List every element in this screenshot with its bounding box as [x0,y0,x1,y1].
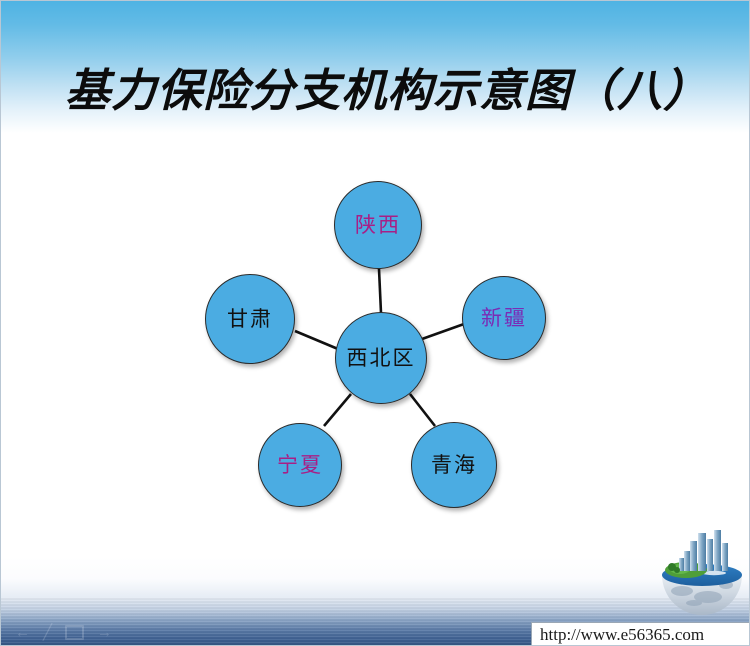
node-label-gansu: 甘肃 [227,309,273,330]
watermark-url-text: http://www.e56365.com [532,625,704,645]
node-qinghai[interactable]: 青海 [411,422,497,508]
node-shaanxi[interactable]: 陕西 [334,181,422,269]
node-label-qinghai: 青海 [431,455,477,476]
earth-city-globe-logo [656,525,748,617]
ghost-toolbar-icons: ← ╱ → [15,621,135,643]
globe-city-skyline [679,530,728,571]
page-title: 基力保险分支机构示意图（八） [65,65,685,117]
node-label-ningxia: 宁夏 [277,455,323,476]
node-gansu[interactable]: 甘肃 [205,274,295,364]
node-northwest-region-center[interactable]: 西北区 [335,312,427,404]
node-ningxia[interactable]: 宁夏 [258,423,342,507]
node-label-xinjiang: 新疆 [481,308,527,329]
slide-canvas: ← ╱ → 基力保险分支机构示意图（八） 陕西 新疆 甘肃 宁夏 青海 [0,0,750,646]
node-xinjiang[interactable]: 新疆 [462,276,546,360]
rectangle-icon [65,625,84,640]
node-label-shaanxi: 陕西 [355,215,401,236]
forward-arrow-icon: → [97,625,112,640]
watermark-url-plate: http://www.e56365.com [531,622,750,646]
back-arrow-icon: ← [15,625,30,640]
node-label-northwest-region: 西北区 [347,348,416,369]
pencil-icon: ╱ [43,625,52,640]
